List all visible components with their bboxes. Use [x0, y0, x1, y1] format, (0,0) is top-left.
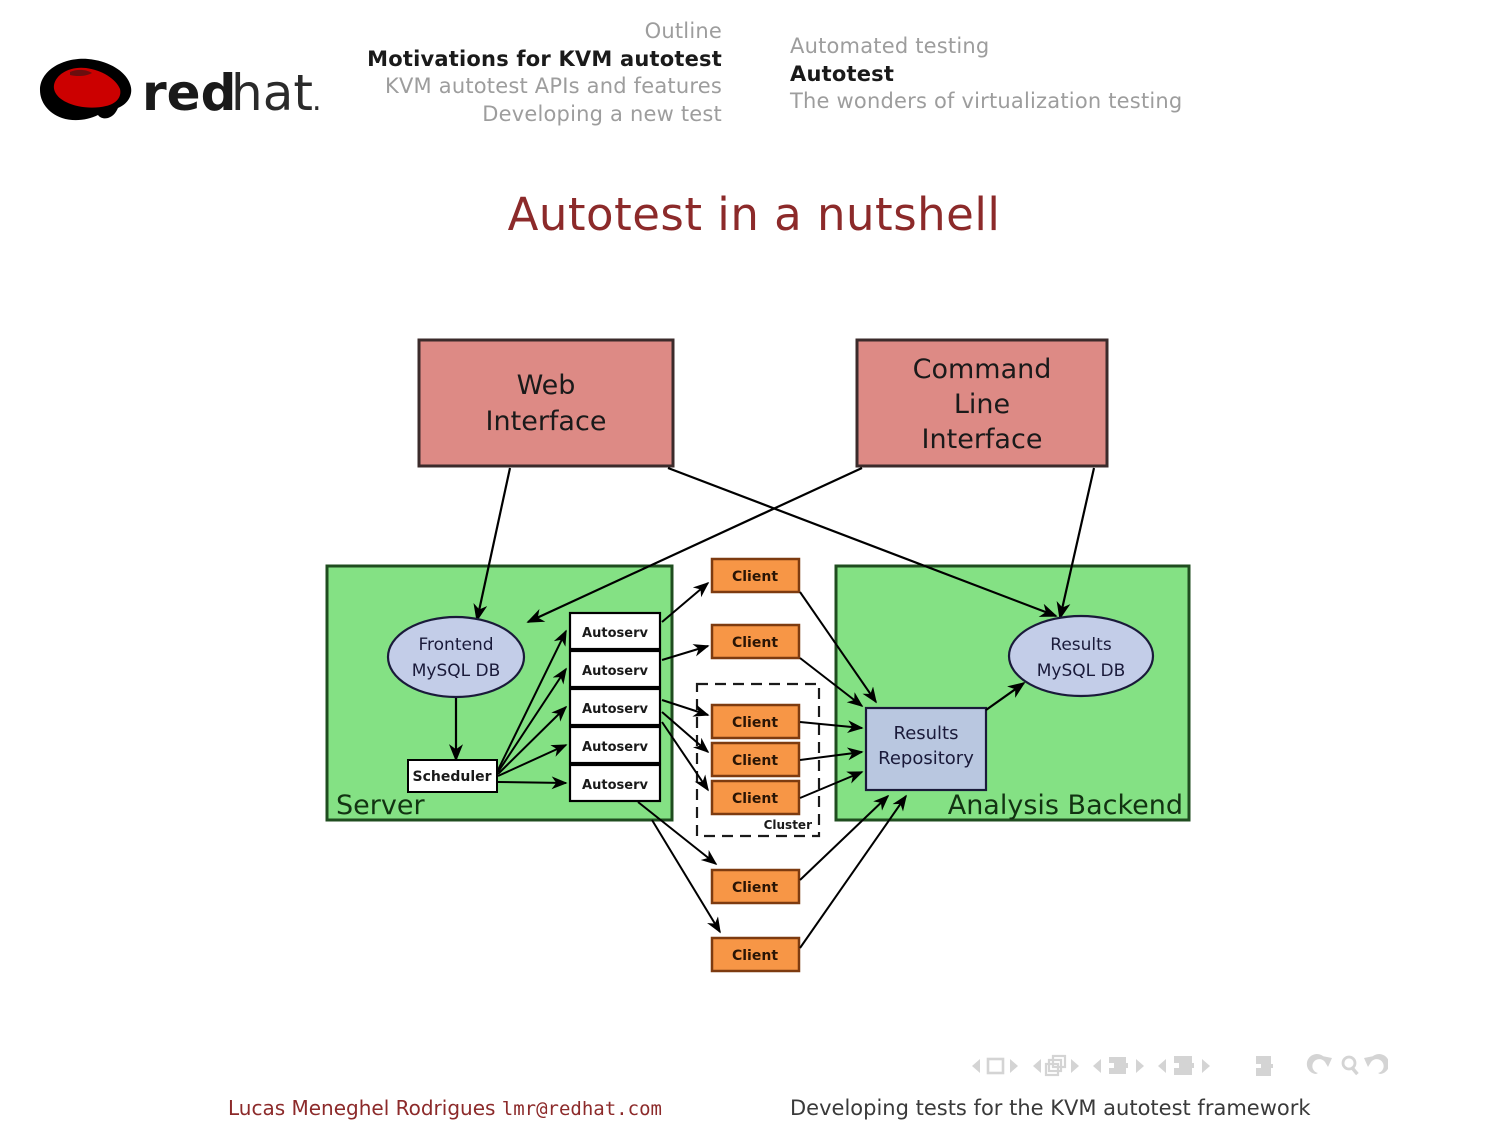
cluster-label: Cluster — [764, 818, 812, 832]
client-label: Client — [732, 569, 778, 585]
web-interface-box — [419, 340, 673, 466]
triangle-right-icon — [1202, 1059, 1210, 1073]
autoserv-label: Autoserv — [582, 702, 648, 717]
stacked-squares-icon — [1046, 1056, 1065, 1075]
footer-author-email[interactable]: lmr@redhat.com — [502, 1098, 662, 1120]
results-repository-label-1: Results — [894, 723, 959, 744]
web-interface-label-2: Interface — [486, 406, 607, 437]
autoserv-stack: Autoserv Autoserv Autoserv Autoserv Auto… — [570, 613, 660, 801]
frontend-mysql-db-label-1: Frontend — [418, 635, 493, 655]
scheduler-label: Scheduler — [412, 769, 491, 785]
analysis-backend-panel-label: Analysis Backend — [948, 790, 1183, 821]
autoserv-label: Autoserv — [582, 664, 648, 679]
section-icon — [1174, 1056, 1194, 1075]
autotest-architecture-diagram: Server Analysis Backend Web Interface Co… — [0, 0, 1508, 1020]
autoserv-label: Autoserv — [582, 778, 648, 793]
footer-author: Lucas Meneghel Rodrigues lmr@redhat.com — [228, 1096, 662, 1120]
triangle-right-icon — [1071, 1059, 1079, 1073]
results-mysql-db-ellipse — [1009, 616, 1153, 696]
cli-label-2: Line — [954, 389, 1010, 420]
triangle-left-icon — [972, 1059, 980, 1073]
triangle-right-icon — [1010, 1059, 1018, 1073]
frontend-mysql-db-label-2: MySQL DB — [412, 661, 501, 681]
arrow-cli-to-frontend-db — [528, 468, 862, 622]
client-boxes: Client Client Cluster Client Client Clie… — [697, 559, 819, 971]
client-label: Client — [732, 753, 778, 769]
footer-talk-title: Developing tests for the KVM autotest fr… — [790, 1096, 1311, 1120]
cli-label-1: Command — [913, 354, 1052, 385]
results-mysql-db-label-1: Results — [1050, 635, 1112, 655]
web-interface-label-1: Web — [517, 370, 576, 401]
server-panel-label: Server — [336, 790, 425, 821]
triangle-left-icon — [1093, 1059, 1101, 1073]
cli-label-3: Interface — [922, 424, 1043, 455]
autoserv-label: Autoserv — [582, 740, 648, 755]
client-label: Client — [732, 880, 778, 896]
results-mysql-db-label-2: MySQL DB — [1037, 661, 1126, 681]
subsection-icon — [1109, 1057, 1128, 1074]
autoserv-label: Autoserv — [582, 626, 648, 641]
client-label: Client — [732, 948, 778, 964]
triangle-left-icon — [1033, 1059, 1041, 1073]
beamer-navigation-bar[interactable] — [968, 1048, 1388, 1084]
footer-author-name: Lucas Meneghel Rodrigues — [228, 1096, 495, 1120]
results-repository-label-2: Repository — [878, 748, 974, 769]
client-label: Client — [732, 635, 778, 651]
magnifier-icon — [1343, 1057, 1359, 1075]
frontend-mysql-db-ellipse — [388, 617, 524, 697]
client-label: Client — [732, 715, 778, 731]
redo-arrow-icon — [1364, 1054, 1388, 1074]
triangle-left-icon — [1158, 1059, 1166, 1073]
square-icon — [988, 1059, 1003, 1073]
triangle-right-icon — [1136, 1059, 1144, 1073]
client-label: Client — [732, 791, 778, 807]
undo-arrow-icon — [1307, 1054, 1332, 1074]
document-icon — [1256, 1056, 1273, 1076]
